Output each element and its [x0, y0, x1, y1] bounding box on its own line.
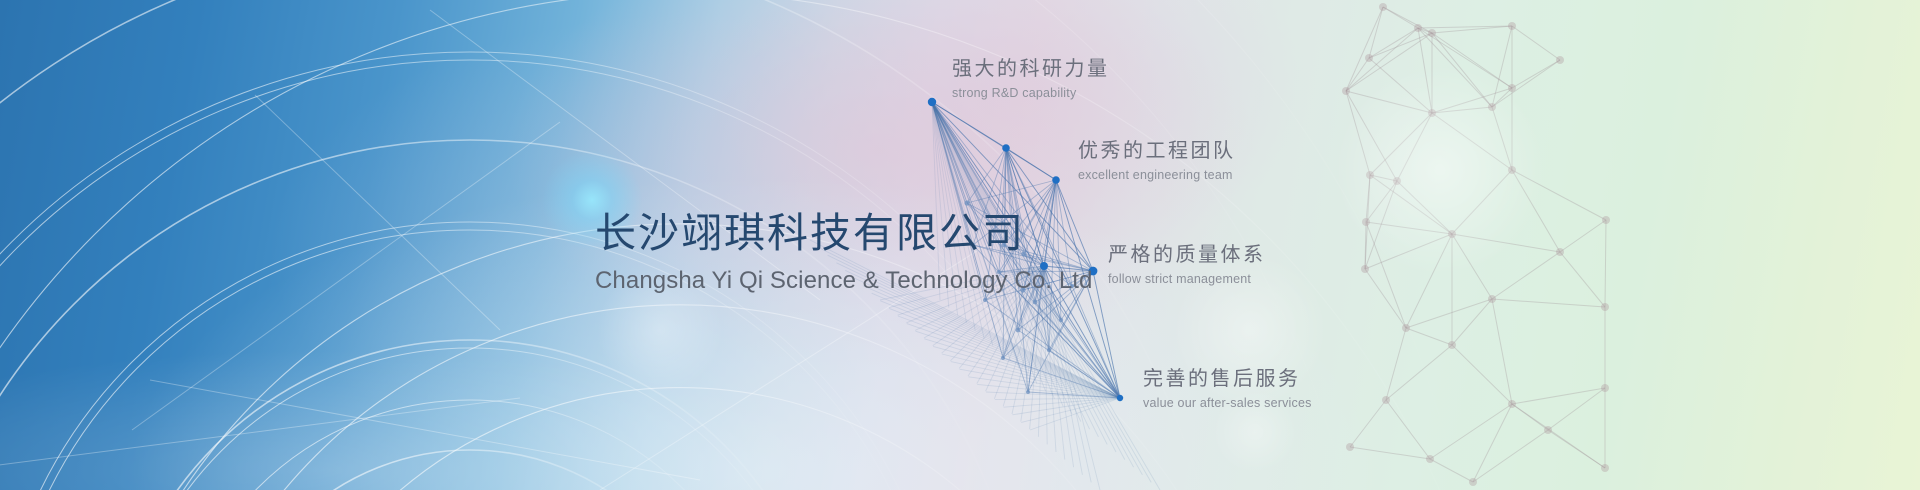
feature-label-cn: 优秀的工程团队 [1078, 134, 1236, 163]
feature-label-en: follow strict management [1108, 272, 1266, 286]
feature-callout-team: 优秀的工程团队 excellent engineering team [1078, 134, 1236, 182]
feature-callout-quality: 严格的质量体系 follow strict management [1108, 238, 1266, 286]
feature-label-cn: 强大的科研力量 [952, 52, 1110, 81]
feature-callout-rd: 强大的科研力量 strong R&D capability [952, 52, 1110, 100]
company-name-en: Changsha Yi Qi Science & Technology Co. … [595, 267, 1093, 295]
company-name-cn: 长沙翊琪科技有限公司 [595, 208, 1093, 259]
feature-callout-service: 完善的售后服务 value our after-sales services [1143, 362, 1312, 410]
feature-label-en: strong R&D capability [952, 86, 1110, 100]
company-name-block: 长沙翊琪科技有限公司 Changsha Yi Qi Science & Tech… [595, 208, 1093, 295]
hero-banner: 长沙翊琪科技有限公司 Changsha Yi Qi Science & Tech… [0, 0, 1920, 490]
feature-label-en: excellent engineering team [1078, 168, 1236, 182]
feature-label-cn: 严格的质量体系 [1108, 238, 1266, 267]
feature-label-en: value our after-sales services [1143, 396, 1312, 410]
feature-label-cn: 完善的售后服务 [1143, 362, 1312, 391]
